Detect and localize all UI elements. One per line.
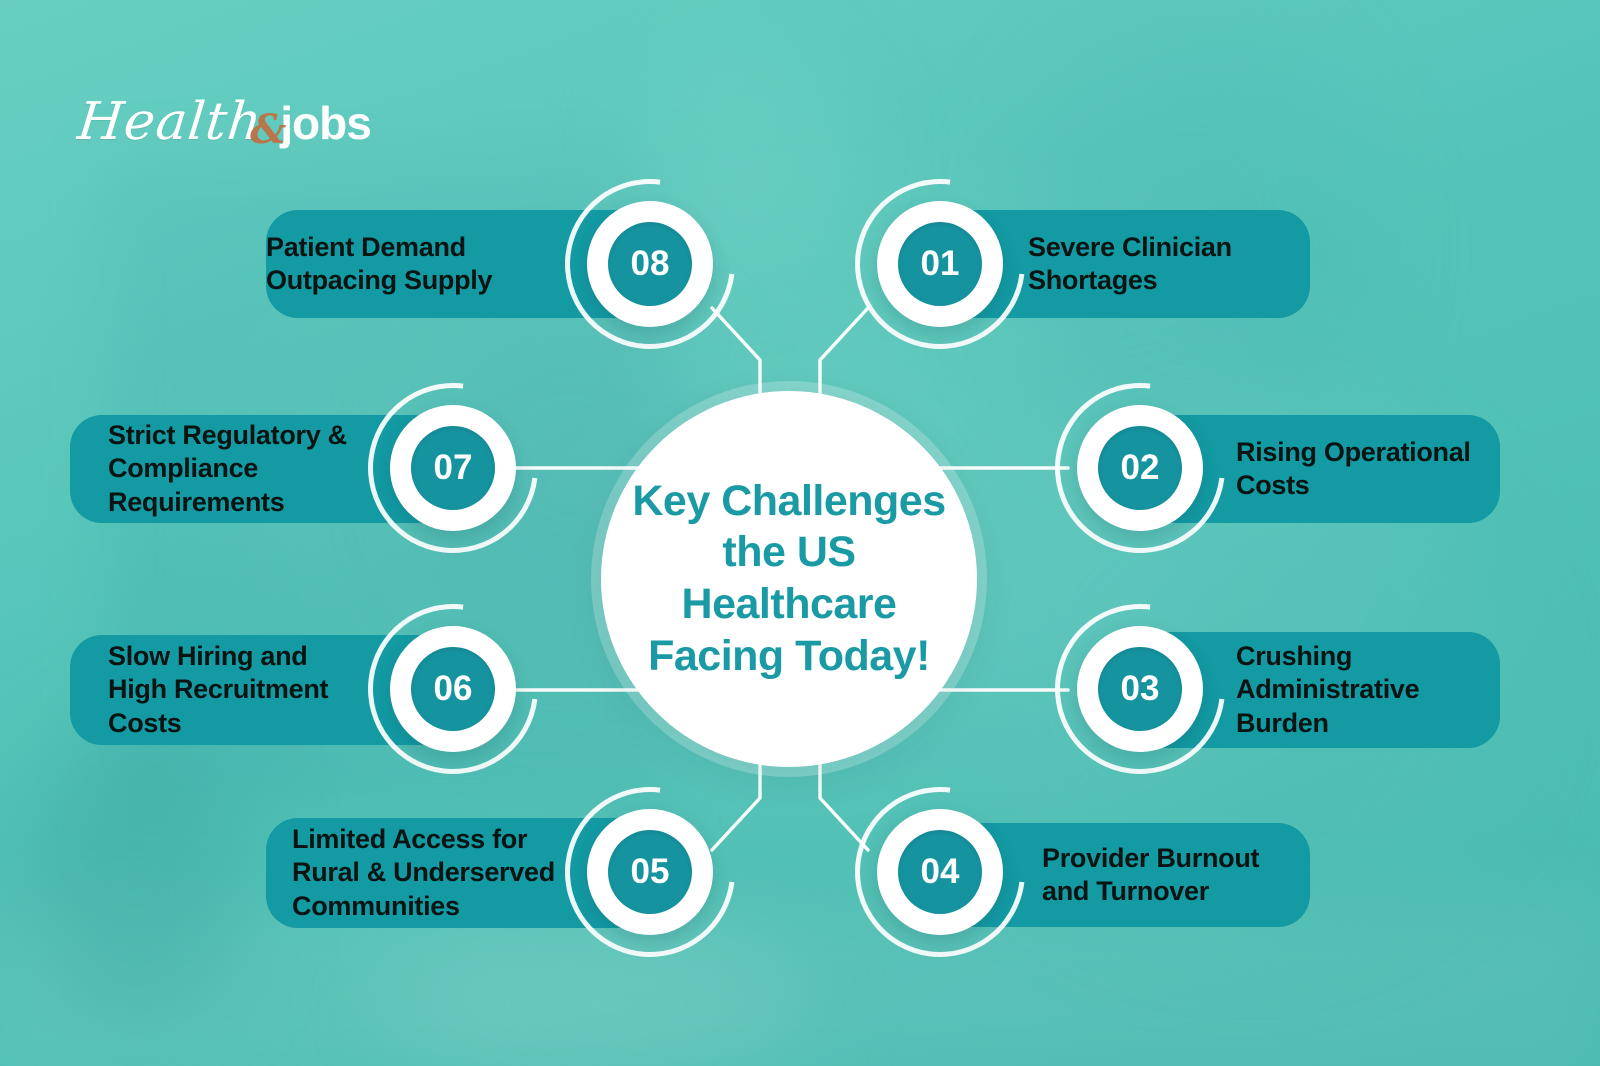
- center-hub: Key Challenges the US Healthcare Facing …: [601, 391, 977, 767]
- item-08-badge[interactable]: 08: [565, 179, 735, 349]
- logo-ampersand: &: [250, 106, 286, 153]
- badge-inner-circle: 01: [898, 222, 982, 306]
- badge-inner-circle: 08: [608, 222, 692, 306]
- item-01-number: 01: [921, 244, 960, 284]
- badge-inner-circle: 02: [1098, 426, 1182, 510]
- item-06-badge[interactable]: 06: [368, 604, 538, 774]
- item-02-label: Rising Operational Costs: [1236, 436, 1471, 503]
- item-04-label: Provider Burnout and Turnover: [1042, 842, 1259, 909]
- badge-inner-circle: 05: [608, 830, 692, 914]
- logo-sans-text: jobs: [280, 96, 371, 150]
- item-06-label: Slow Hiring and High Recruitment Costs: [108, 640, 328, 740]
- badge-inner-circle: 03: [1098, 647, 1182, 731]
- logo-script-text: Health: [75, 92, 265, 152]
- item-07-label: Strict Regulatory & Compliance Requireme…: [108, 419, 347, 519]
- item-03-badge[interactable]: 03: [1055, 604, 1225, 774]
- item-07-badge[interactable]: 07: [368, 383, 538, 553]
- infographic-canvas: Health & jobs Patient Demand Outpacing: [0, 0, 1600, 1066]
- item-05-badge[interactable]: 05: [565, 787, 735, 957]
- item-03-number: 03: [1121, 669, 1160, 709]
- item-08-number: 08: [631, 244, 670, 284]
- page-title: Key Challenges the US Healthcare Facing …: [601, 476, 977, 682]
- badge-inner-circle: 06: [411, 647, 495, 731]
- item-04-number: 04: [921, 852, 960, 892]
- item-01-badge[interactable]: 01: [855, 179, 1025, 349]
- item-01-label: Severe Clinician Shortages: [1028, 231, 1232, 298]
- badge-inner-circle: 07: [411, 426, 495, 510]
- brand-logo[interactable]: Health & jobs: [78, 92, 371, 152]
- item-08-label: Patient Demand Outpacing Supply: [266, 231, 492, 298]
- item-02-badge[interactable]: 02: [1055, 383, 1225, 553]
- item-05-label: Limited Access for Rural & Underserved C…: [292, 823, 555, 923]
- item-07-number: 07: [434, 448, 473, 488]
- item-05-number: 05: [631, 852, 670, 892]
- item-04-badge[interactable]: 04: [855, 787, 1025, 957]
- badge-inner-circle: 04: [898, 830, 982, 914]
- item-06-number: 06: [434, 669, 473, 709]
- item-02-number: 02: [1121, 448, 1160, 488]
- item-03-label: Crushing Administrative Burden: [1236, 640, 1419, 740]
